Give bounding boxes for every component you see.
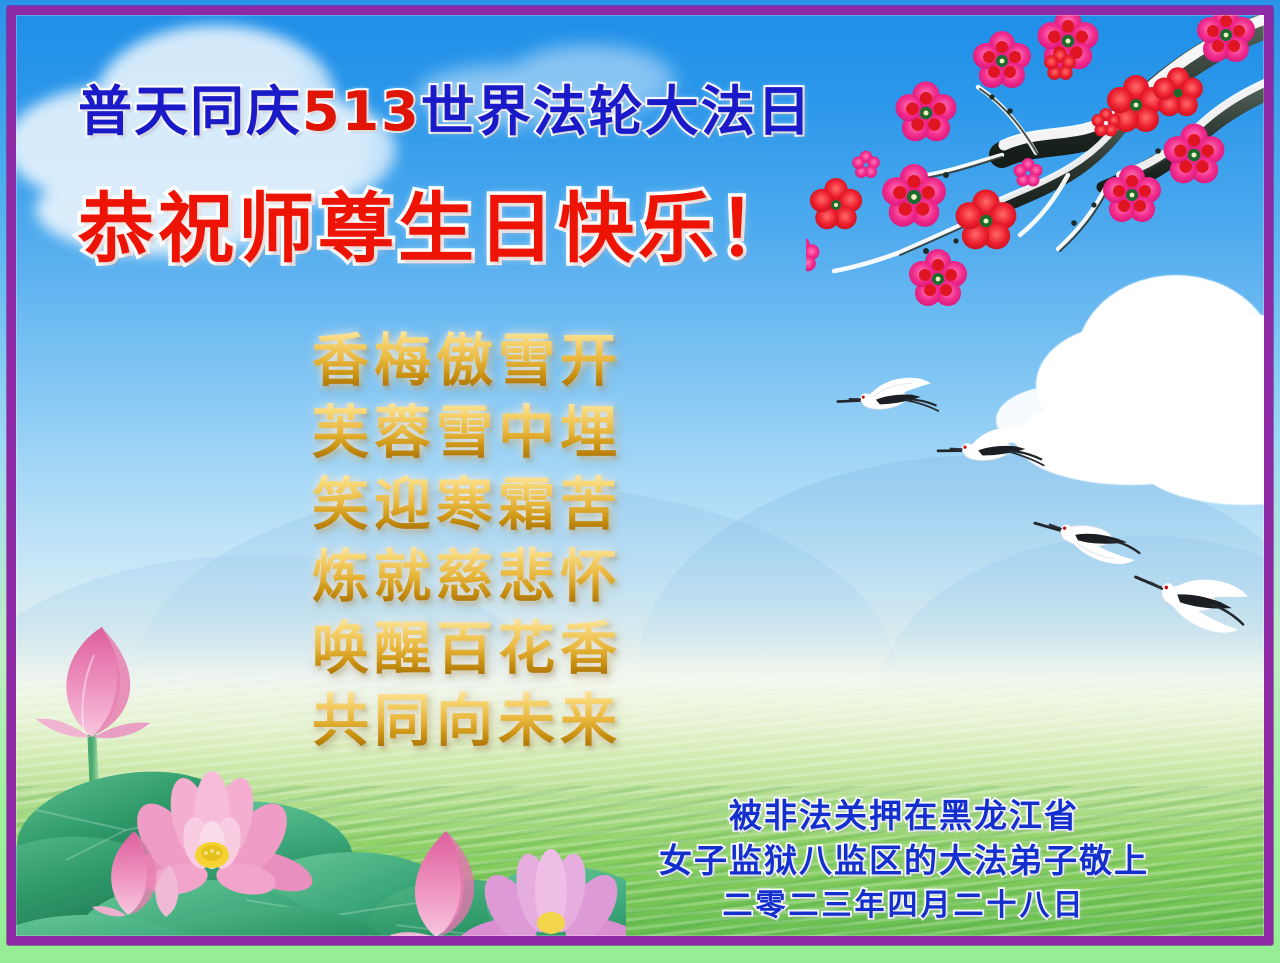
headline-secondary: 恭祝师尊生日快乐！ bbox=[78, 167, 798, 277]
headline-primary: 普天同庆513世界法轮大法日 bbox=[78, 67, 813, 146]
poem-line: 共同向未来 bbox=[312, 685, 732, 757]
flying-crane-icon bbox=[931, 417, 1049, 483]
greeting-card: 普天同庆513世界法轮大法日 恭祝师尊生日快乐！ 香梅傲雪开 芙蓉雪中埋 笑迎寒… bbox=[0, 0, 1280, 963]
poem-line: 炼就慈悲怀 bbox=[312, 541, 732, 613]
poem-line: 唤醒百花香 bbox=[312, 613, 732, 685]
flying-crane-icon bbox=[1026, 505, 1148, 573]
signature-line-1: 被非法关押在黑龙江省 bbox=[594, 793, 1214, 838]
flying-crane-icon bbox=[831, 367, 943, 431]
headline-primary-suffix: 世界法轮大法日 bbox=[421, 80, 813, 143]
poem-line: 香梅傲雪开 bbox=[312, 325, 732, 397]
poem-line: 芙蓉雪中埋 bbox=[312, 397, 732, 469]
flying-crane-icon bbox=[1126, 565, 1256, 641]
headline-primary-prefix: 普天同庆 bbox=[78, 80, 302, 143]
card-scene: 普天同庆513世界法轮大法日 恭祝师尊生日快乐！ 香梅傲雪开 芙蓉雪中埋 笑迎寒… bbox=[16, 15, 1264, 936]
poem-line: 笑迎寒霜苦 bbox=[312, 469, 732, 541]
signature-date: 二零二三年四月二十八日 bbox=[594, 883, 1214, 928]
signature-block: 被非法关押在黑龙江省 女子监狱八监区的大法弟子敬上 二零二三年四月二十八日 bbox=[594, 793, 1214, 928]
signature-line-2: 女子监狱八监区的大法弟子敬上 bbox=[594, 838, 1214, 883]
poem-block: 香梅傲雪开 芙蓉雪中埋 笑迎寒霜苦 炼就慈悲怀 唤醒百花香 共同向未来 bbox=[312, 325, 732, 757]
headline-primary-number: 513 bbox=[302, 80, 421, 143]
card-frame: 普天同庆513世界法轮大法日 恭祝师尊生日快乐！ 香梅傲雪开 芙蓉雪中埋 笑迎寒… bbox=[7, 6, 1273, 945]
plum-blossom-branch-icon bbox=[806, 15, 1264, 335]
